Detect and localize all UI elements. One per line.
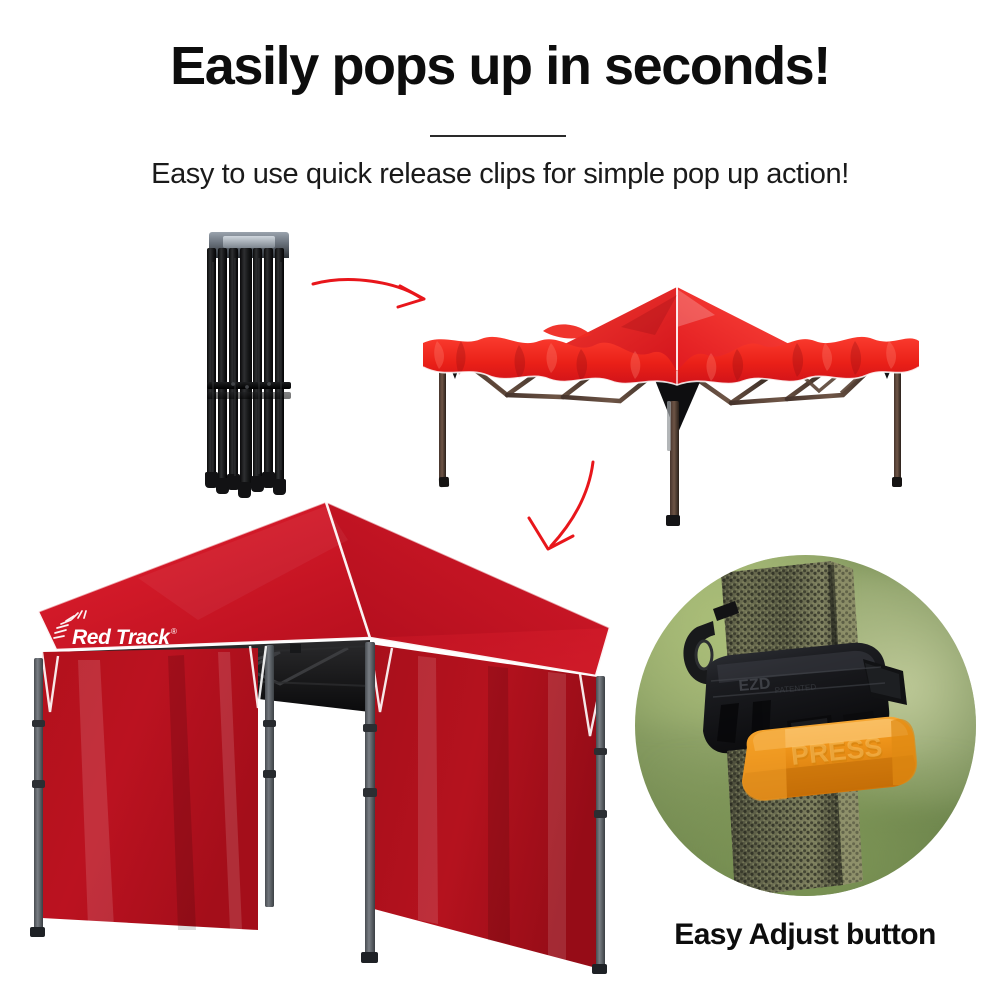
folded-gazebo-frame xyxy=(203,232,295,490)
page-title: Easily pops up in seconds! xyxy=(0,38,1000,95)
title-divider xyxy=(430,135,566,137)
gazebo-leg-left xyxy=(30,658,45,937)
clip-closeup-svg: EZD PATENTED xyxy=(635,555,976,896)
easy-adjust-clip-photo: EZD PATENTED xyxy=(635,555,976,896)
marketing-image: Easily pops up in seconds! Easy to use q… xyxy=(0,0,1000,1000)
assembled-gazebo-with-walls: Red Track ® xyxy=(18,480,638,980)
frame-detail-lines xyxy=(203,232,295,490)
inset-caption: Easy Adjust button xyxy=(620,918,990,952)
page-subtitle: Easy to use quick release clips for simp… xyxy=(0,158,1000,191)
clip-housing-text: EZD xyxy=(738,675,771,695)
gazebo-svg: Red Track ® xyxy=(18,480,638,980)
brand-trademark: ® xyxy=(171,627,177,636)
brand-logo-text: Red Track xyxy=(72,626,171,649)
